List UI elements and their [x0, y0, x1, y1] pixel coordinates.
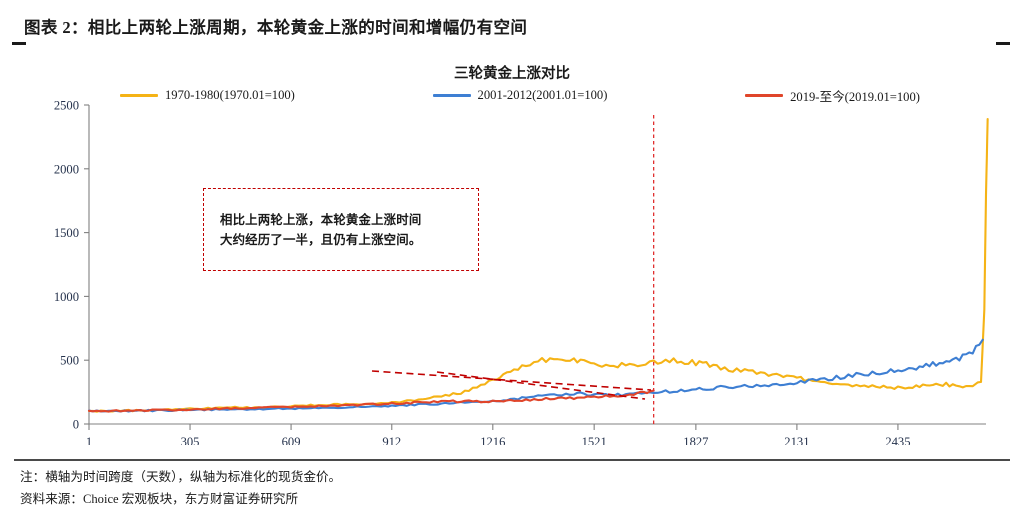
x-axis-ticks: 130560991212161521182721312435 [86, 424, 911, 445]
annotation-leader-lines [372, 371, 651, 399]
y-tick-label: 0 [73, 418, 79, 432]
chart-plot-area: 05001000150020002500 1305609912121615211… [0, 100, 1024, 445]
footer-divider [14, 459, 1010, 461]
y-tick-label: 500 [60, 354, 79, 368]
page-title: 图表 2：相比上两轮上涨周期，本轮黄金上涨的时间和增幅仍有空间 [24, 14, 527, 38]
annotation-text: 相比上两轮上涨，本轮黄金上涨时间 大约经历了一半，且仍有上涨空间。 [220, 210, 470, 251]
legend-swatch-icon [745, 94, 783, 97]
y-tick-label: 2000 [54, 162, 79, 176]
legend-swatch-icon [433, 94, 471, 97]
chart-title: 三轮黄金上涨对比 [0, 62, 1024, 83]
x-tick-label: 912 [382, 435, 401, 445]
x-tick-label: 1216 [480, 435, 505, 445]
header-rule-left [12, 42, 26, 45]
x-tick-label: 1827 [683, 435, 708, 445]
x-tick-label: 609 [282, 435, 301, 445]
annotation-callout-box: 相比上两轮上涨，本轮黄金上涨时间 大约经历了一半，且仍有上涨空间。 [203, 188, 479, 271]
x-tick-label: 2435 [885, 435, 910, 445]
leader-line-upper [372, 371, 651, 390]
x-tick-label: 1521 [582, 435, 607, 445]
chart-svg: 05001000150020002500 1305609912121615211… [0, 100, 1024, 445]
legend-swatch-icon [120, 94, 158, 97]
y-tick-label: 2500 [54, 100, 79, 113]
x-tick-label: 305 [181, 435, 200, 445]
footer-notes: 注：横轴为时间跨度（天数），纵轴为标准化的现货金价。 资料来源：Choice 宏… [20, 466, 341, 510]
header-rule-right [996, 42, 1010, 45]
x-tick-label: 2131 [784, 435, 809, 445]
y-tick-label: 1000 [54, 290, 79, 304]
x-tick-label: 1 [86, 435, 92, 445]
footer-note: 注：横轴为时间跨度（天数），纵轴为标准化的现货金价。 [20, 466, 341, 488]
series-line-1 [89, 340, 983, 412]
y-tick-label: 1500 [54, 226, 79, 240]
y-axis-ticks: 05001000150020002500 [54, 100, 89, 432]
footer-source: 资料来源：Choice 宏观板块，东方财富证券研究所 [20, 488, 341, 510]
